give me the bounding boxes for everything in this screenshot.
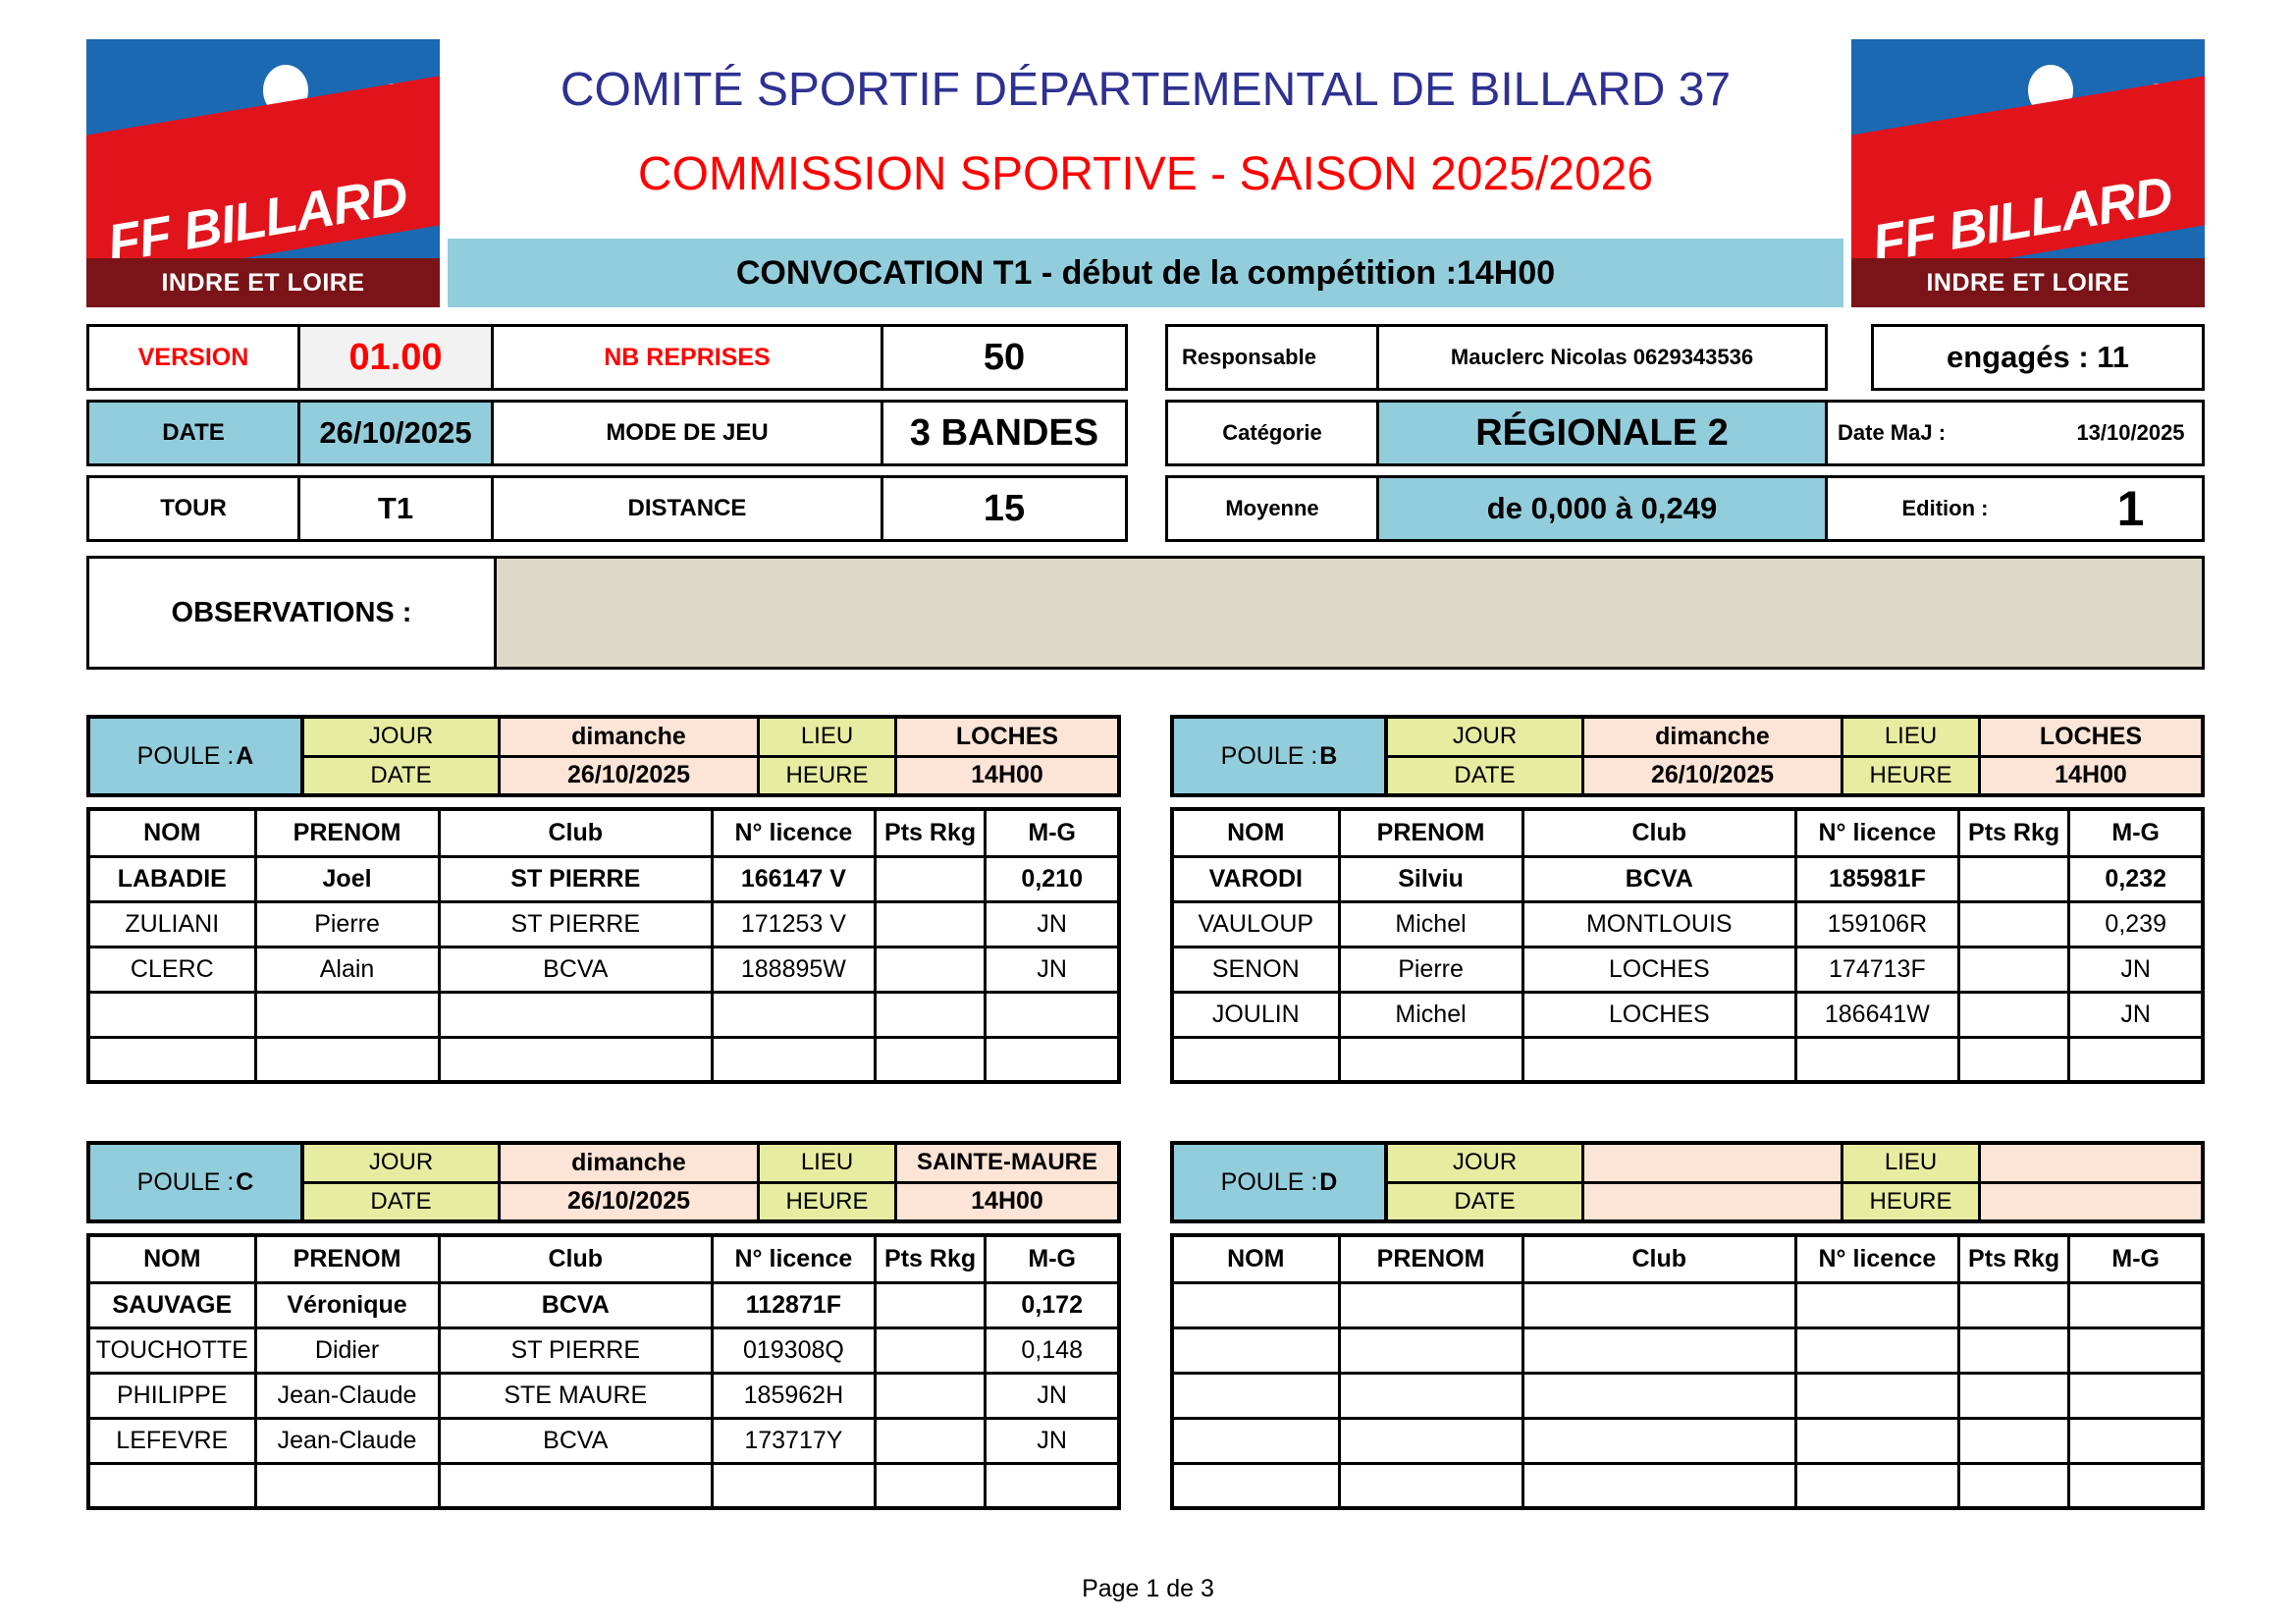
- player-prenom: Jean-Claude: [255, 1418, 439, 1463]
- player-licence: [713, 992, 876, 1037]
- player-prenom: Michel: [1339, 992, 1522, 1037]
- player-nom: [1172, 1418, 1339, 1463]
- player-prenom: [255, 1463, 439, 1508]
- player-licence: [1796, 1327, 1959, 1373]
- player-prenom: Silviu: [1339, 856, 1522, 901]
- player-club: [439, 992, 712, 1037]
- poule-b-date[interactable]: 26/10/2025: [1584, 758, 1843, 794]
- player-club: [1522, 1282, 1795, 1327]
- player-pts: [1958, 1463, 2069, 1508]
- convocation-document: FF BILLARD INDRE ET LOIRE COMITÉ SPORTIF…: [0, 0, 2296, 1624]
- document-header: FF BILLARD INDRE ET LOIRE COMITÉ SPORTIF…: [86, 39, 2205, 307]
- player-nom: [88, 1463, 255, 1508]
- player-prenom: [1339, 1373, 1522, 1418]
- player-club: BCVA: [439, 1418, 712, 1463]
- header-titles: COMITÉ SPORTIF DÉPARTEMENTAL DE BILLARD …: [448, 39, 1843, 307]
- player-mg: JN: [986, 947, 1119, 992]
- poule-a-id: A: [236, 742, 253, 771]
- poule-row-top: POULE : A JOUR dimanche LIEU LOCHES DATE…: [86, 715, 2205, 1084]
- table-row[interactable]: [1172, 1282, 2203, 1327]
- player-mg: 0,210: [986, 856, 1119, 901]
- poule-a-jour[interactable]: dimanche: [501, 719, 760, 755]
- player-prenom: [1339, 1418, 1522, 1463]
- moyenne-label: Moyenne: [1165, 475, 1379, 542]
- ff-billard-logo-left: FF BILLARD INDRE ET LOIRE: [86, 39, 440, 307]
- player-licence: 174713F: [1796, 947, 1959, 992]
- player-pts: [875, 856, 986, 901]
- player-club: LOCHES: [1522, 947, 1795, 992]
- player-pts: [1958, 947, 2069, 992]
- distance-value[interactable]: 15: [881, 475, 1128, 542]
- ff-billard-logo-right: FF BILLARD INDRE ET LOIRE: [1851, 39, 2205, 307]
- table-row[interactable]: [1172, 1463, 2203, 1508]
- logo-graphic: FF BILLARD: [1851, 39, 2205, 258]
- date-label: DATE: [304, 1184, 501, 1220]
- col-mg: M-G: [2069, 1235, 2203, 1282]
- poule-b-title: POULE : B: [1174, 719, 1388, 793]
- player-licence: [1796, 1282, 1959, 1327]
- poule-c-lieu[interactable]: SAINTE-MAURE: [897, 1145, 1117, 1181]
- player-mg: JN: [2069, 947, 2203, 992]
- player-prenom: [1339, 1037, 1522, 1082]
- player-club: ST PIERRE: [439, 901, 712, 947]
- player-pts: [875, 1037, 986, 1082]
- poule-c-title: POULE : C: [90, 1145, 304, 1219]
- player-licence: [713, 1463, 876, 1508]
- poules-section: POULE : A JOUR dimanche LIEU LOCHES DATE…: [86, 715, 2205, 1567]
- player-club: BCVA: [439, 1282, 712, 1327]
- player-mg: 0,232: [2069, 856, 2203, 901]
- player-licence: 159106R: [1796, 901, 1959, 947]
- date-maj-label: Date MaJ :: [1825, 400, 2062, 466]
- edition-label: Edition :: [1825, 475, 2062, 542]
- heure-label: HEURE: [760, 758, 897, 794]
- table-row[interactable]: [88, 992, 1119, 1037]
- table-header-row: NOM PRENOM Club N° licence Pts Rkg M-G: [88, 809, 1119, 856]
- date-label: DATE: [86, 400, 300, 466]
- poule-a-table: NOM PRENOM Club N° licence Pts Rkg M-G L…: [86, 807, 1121, 1084]
- player-licence: 173717Y: [713, 1418, 876, 1463]
- player-prenom: Pierre: [1339, 947, 1522, 992]
- player-mg: [2069, 1463, 2203, 1508]
- player-prenom: [1339, 1282, 1522, 1327]
- player-club: [1522, 1327, 1795, 1373]
- col-prenom: PRENOM: [1339, 809, 1522, 856]
- poule-c-jour[interactable]: dimanche: [501, 1145, 760, 1181]
- poule-b-table: NOM PRENOM Club N° licence Pts Rkg M-G V…: [1170, 807, 2205, 1084]
- col-pts: Pts Rkg: [875, 809, 986, 856]
- col-licence: N° licence: [1796, 1235, 1959, 1282]
- player-pts: [875, 1463, 986, 1508]
- moyenne-value[interactable]: de 0,000 à 0,249: [1376, 475, 1828, 542]
- player-pts: [875, 1418, 986, 1463]
- player-mg: 0,239: [2069, 901, 2203, 947]
- poule-d-heure[interactable]: [1981, 1184, 2201, 1220]
- info-row-version: VERSION 01.00 NB REPRISES 50 Responsable…: [86, 324, 2205, 391]
- edition-value[interactable]: 1: [2059, 475, 2205, 542]
- player-nom: LEFEVRE: [88, 1418, 255, 1463]
- player-licence: 166147 V: [713, 856, 876, 901]
- player-club: [439, 1463, 712, 1508]
- nb-reprises-value[interactable]: 50: [881, 324, 1128, 391]
- player-pts: [875, 1373, 986, 1418]
- player-prenom: [255, 992, 439, 1037]
- player-prenom: Pierre: [255, 901, 439, 947]
- heure-label: HEURE: [1843, 758, 1981, 794]
- player-prenom: Jean-Claude: [255, 1373, 439, 1418]
- table-row[interactable]: SENON Pierre LOCHES 174713F JN: [1172, 947, 2203, 992]
- player-club: LOCHES: [1522, 992, 1795, 1037]
- table-row[interactable]: VARODI Silviu BCVA 185981F 0,232: [1172, 856, 2203, 901]
- table-row[interactable]: [1172, 1037, 2203, 1082]
- poule-a-header: POULE : A JOUR dimanche LIEU LOCHES DATE…: [86, 715, 1121, 797]
- poule-c: POULE : C JOUR dimanche LIEU SAINTE-MAUR…: [86, 1141, 1121, 1510]
- player-mg: JN: [986, 1418, 1119, 1463]
- mode-de-jeu-value[interactable]: 3 BANDES: [881, 400, 1128, 466]
- player-pts: [1958, 992, 2069, 1037]
- player-prenom: [1339, 1463, 1522, 1508]
- player-licence: 188895W: [713, 947, 876, 992]
- responsable-value[interactable]: Mauclerc Nicolas 0629343536: [1376, 324, 1828, 391]
- col-prenom: PRENOM: [1339, 1235, 1522, 1282]
- categorie-label: Catégorie: [1165, 400, 1379, 466]
- table-header-row: NOM PRENOM Club N° licence Pts Rkg M-G: [1172, 1235, 2203, 1282]
- poule-b-header: POULE : B JOUR dimanche LIEU LOCHES DATE…: [1170, 715, 2205, 797]
- col-pts: Pts Rkg: [1958, 809, 2069, 856]
- col-nom: NOM: [1172, 809, 1339, 856]
- player-mg: [986, 992, 1119, 1037]
- date-label: DATE: [1388, 1184, 1584, 1220]
- player-pts: [1958, 1373, 2069, 1418]
- poule-row-bottom: POULE : C JOUR dimanche LIEU SAINTE-MAUR…: [86, 1141, 2205, 1510]
- table-row[interactable]: [1172, 1418, 2203, 1463]
- table-row[interactable]: ZULIANI Pierre ST PIERRE 171253 V JN: [88, 901, 1119, 947]
- player-licence: [713, 1037, 876, 1082]
- player-nom: [1172, 1282, 1339, 1327]
- player-mg: [2069, 1327, 2203, 1373]
- player-nom: [1172, 1463, 1339, 1508]
- table-row[interactable]: [88, 1037, 1119, 1082]
- poule-prefix-label: POULE :: [137, 1168, 235, 1197]
- player-nom: [1172, 1037, 1339, 1082]
- player-prenom: Didier: [255, 1327, 439, 1373]
- poule-a-lieu[interactable]: LOCHES: [897, 719, 1117, 755]
- poule-b-lieu[interactable]: LOCHES: [1981, 719, 2201, 755]
- player-mg: JN: [2069, 992, 2203, 1037]
- player-nom: VAULOUP: [1172, 901, 1339, 947]
- col-mg: M-G: [2069, 809, 2203, 856]
- jour-label: JOUR: [1388, 1145, 1584, 1181]
- player-club: [1522, 1037, 1795, 1082]
- lieu-label: LIEU: [1843, 1145, 1981, 1181]
- player-pts: [875, 947, 986, 992]
- poule-d-title: POULE : D: [1174, 1145, 1388, 1219]
- player-mg: 0,148: [986, 1327, 1119, 1373]
- page-title: COMITÉ SPORTIF DÉPARTEMENTAL DE BILLARD …: [448, 39, 1843, 114]
- mode-de-jeu-label: MODE DE JEU: [491, 400, 883, 466]
- player-club: ST PIERRE: [439, 1327, 712, 1373]
- player-club: [1522, 1418, 1795, 1463]
- poule-a-title: POULE : A: [90, 719, 304, 793]
- poule-c-header: POULE : C JOUR dimanche LIEU SAINTE-MAUR…: [86, 1141, 1121, 1223]
- poule-c-table: NOM PRENOM Club N° licence Pts Rkg M-G S…: [86, 1233, 1121, 1510]
- page-footer: Page 1 de 3: [0, 1575, 2296, 1603]
- poule-a: POULE : A JOUR dimanche LIEU LOCHES DATE…: [86, 715, 1121, 1084]
- player-pts: [1958, 901, 2069, 947]
- distance-label: DISTANCE: [491, 475, 883, 542]
- player-mg: 0,172: [986, 1282, 1119, 1327]
- player-club: ST PIERRE: [439, 856, 712, 901]
- poule-prefix-label: POULE :: [137, 742, 235, 771]
- col-nom: NOM: [88, 809, 255, 856]
- player-nom: LABADIE: [88, 856, 255, 901]
- col-licence: N° licence: [1796, 809, 1959, 856]
- player-club: MONTLOUIS: [1522, 901, 1795, 947]
- col-licence: N° licence: [713, 809, 876, 856]
- convocation-banner: CONVOCATION T1 - début de la compétition…: [448, 239, 1843, 307]
- poule-b-jour[interactable]: dimanche: [1584, 719, 1843, 755]
- col-prenom: PRENOM: [255, 809, 439, 856]
- player-licence: [1796, 1463, 1959, 1508]
- col-club: Club: [1522, 809, 1795, 856]
- poule-c-date[interactable]: 26/10/2025: [501, 1184, 760, 1220]
- player-prenom: Véronique: [255, 1282, 439, 1327]
- player-nom: SAUVAGE: [88, 1282, 255, 1327]
- version-label: VERSION: [86, 324, 300, 391]
- observations-row: OBSERVATIONS :: [86, 556, 2205, 670]
- competition-info-grid: VERSION 01.00 NB REPRISES 50 Responsable…: [86, 324, 2205, 670]
- version-value[interactable]: 01.00: [297, 324, 494, 391]
- table-row[interactable]: JOULIN Michel LOCHES 186641W JN: [1172, 992, 2203, 1037]
- convocation-banner-text: CONVOCATION T1 - début de la compétition…: [736, 254, 1555, 293]
- table-row[interactable]: TOUCHOTTE Didier ST PIERRE 019308Q 0,148: [88, 1327, 1119, 1373]
- player-pts: [1958, 1418, 2069, 1463]
- date-label: DATE: [1388, 758, 1584, 794]
- player-club: [1522, 1463, 1795, 1508]
- table-row[interactable]: [1172, 1327, 2203, 1373]
- poule-a-heure[interactable]: 14H00: [897, 758, 1117, 794]
- player-licence: [1796, 1037, 1959, 1082]
- col-pts: Pts Rkg: [875, 1235, 986, 1282]
- player-pts: [1958, 1327, 2069, 1373]
- page-subtitle: COMMISSION SPORTIVE - SAISON 2025/2026: [448, 114, 1843, 198]
- tour-value[interactable]: T1: [297, 475, 494, 542]
- observations-field[interactable]: [497, 556, 2205, 670]
- jour-label: JOUR: [304, 719, 501, 755]
- jour-label: JOUR: [1388, 719, 1584, 755]
- player-club: STE MAURE: [439, 1373, 712, 1418]
- info-row-date: DATE 26/10/2025 MODE DE JEU 3 BANDES Cat…: [86, 400, 2205, 466]
- poule-c-heure[interactable]: 14H00: [897, 1184, 1117, 1220]
- player-pts: [1958, 1037, 2069, 1082]
- player-prenom: Michel: [1339, 901, 1522, 947]
- player-pts: [875, 1282, 986, 1327]
- info-row-tour: TOUR T1 DISTANCE 15 Moyenne de 0,000 à 0…: [86, 475, 2205, 542]
- player-nom: VARODI: [1172, 856, 1339, 901]
- player-licence: 185981F: [1796, 856, 1959, 901]
- lieu-label: LIEU: [1843, 719, 1981, 755]
- col-mg: M-G: [986, 809, 1119, 856]
- poule-prefix-label: POULE :: [1221, 742, 1318, 771]
- observations-label: OBSERVATIONS :: [86, 556, 497, 670]
- player-nom: PHILIPPE: [88, 1373, 255, 1418]
- table-row[interactable]: LEFEVRE Jean-Claude BCVA 173717Y JN: [88, 1418, 1119, 1463]
- player-mg: JN: [986, 1373, 1119, 1418]
- col-pts: Pts Rkg: [1958, 1235, 2069, 1282]
- col-nom: NOM: [88, 1235, 255, 1282]
- poule-prefix-label: POULE :: [1221, 1168, 1318, 1197]
- engages-count: engagés : 11: [1871, 324, 2205, 391]
- date-value[interactable]: 26/10/2025: [297, 400, 494, 466]
- logo-subtitle: INDRE ET LOIRE: [1851, 258, 2205, 307]
- logo-graphic: FF BILLARD: [86, 39, 440, 258]
- col-nom: NOM: [1172, 1235, 1339, 1282]
- player-nom: TOUCHOTTE: [88, 1327, 255, 1373]
- player-mg: [2069, 1037, 2203, 1082]
- player-prenom: [255, 1037, 439, 1082]
- table-row[interactable]: SAUVAGE Véronique BCVA 112871F 0,172: [88, 1282, 1119, 1327]
- date-label: DATE: [304, 758, 501, 794]
- player-nom: JOULIN: [1172, 992, 1339, 1037]
- player-prenom: [1339, 1327, 1522, 1373]
- player-club: [1522, 1373, 1795, 1418]
- categorie-value[interactable]: RÉGIONALE 2: [1376, 400, 1828, 466]
- poule-c-id: C: [236, 1168, 253, 1197]
- poule-b: POULE : B JOUR dimanche LIEU LOCHES DATE…: [1170, 715, 2205, 1084]
- responsable-label: Responsable: [1165, 324, 1379, 391]
- table-row[interactable]: PHILIPPE Jean-Claude STE MAURE 185962H J…: [88, 1373, 1119, 1418]
- poule-d-date[interactable]: [1584, 1184, 1843, 1220]
- player-pts: [875, 901, 986, 947]
- col-prenom: PRENOM: [255, 1235, 439, 1282]
- player-nom: CLERC: [88, 947, 255, 992]
- col-club: Club: [1522, 1235, 1795, 1282]
- heure-label: HEURE: [760, 1184, 897, 1220]
- player-mg: [2069, 1282, 2203, 1327]
- player-prenom: Alain: [255, 947, 439, 992]
- poule-d-header: POULE : D JOUR LIEU DATE HEURE: [1170, 1141, 2205, 1223]
- nb-reprises-label: NB REPRISES: [491, 324, 883, 391]
- poule-d: POULE : D JOUR LIEU DATE HEURE: [1170, 1141, 2205, 1510]
- table-row[interactable]: CLERC Alain BCVA 188895W JN: [88, 947, 1119, 992]
- player-mg: [2069, 1373, 2203, 1418]
- col-club: Club: [439, 809, 712, 856]
- player-nom: [1172, 1373, 1339, 1418]
- player-pts: [875, 992, 986, 1037]
- player-licence: 171253 V: [713, 901, 876, 947]
- col-mg: M-G: [986, 1235, 1119, 1282]
- col-licence: N° licence: [713, 1235, 876, 1282]
- player-nom: ZULIANI: [88, 901, 255, 947]
- player-nom: [1172, 1327, 1339, 1373]
- poule-b-id: B: [1319, 742, 1337, 771]
- player-mg: [986, 1037, 1119, 1082]
- poule-d-table: NOM PRENOM Club N° licence Pts Rkg M-G: [1170, 1233, 2205, 1510]
- player-licence: 186641W: [1796, 992, 1959, 1037]
- player-mg: [2069, 1418, 2203, 1463]
- player-licence: [1796, 1373, 1959, 1418]
- poule-d-jour[interactable]: [1584, 1145, 1843, 1181]
- player-licence: 019308Q: [713, 1327, 876, 1373]
- player-mg: [986, 1463, 1119, 1508]
- jour-label: JOUR: [304, 1145, 501, 1181]
- poule-d-lieu[interactable]: [1981, 1145, 2201, 1181]
- player-licence: 112871F: [713, 1282, 876, 1327]
- logo-subtitle: INDRE ET LOIRE: [86, 258, 440, 307]
- player-pts: [1958, 1282, 2069, 1327]
- player-club: [439, 1037, 712, 1082]
- table-row[interactable]: [88, 1463, 1119, 1508]
- player-nom: SENON: [1172, 947, 1339, 992]
- lieu-label: LIEU: [760, 719, 897, 755]
- heure-label: HEURE: [1843, 1184, 1981, 1220]
- date-maj-value[interactable]: 13/10/2025: [2059, 400, 2205, 466]
- player-pts: [1958, 856, 2069, 901]
- table-header-row: NOM PRENOM Club N° licence Pts Rkg M-G: [1172, 809, 2203, 856]
- player-nom: [88, 1037, 255, 1082]
- player-licence: 185962H: [713, 1373, 876, 1418]
- poule-d-id: D: [1319, 1168, 1337, 1197]
- player-prenom: Joel: [255, 856, 439, 901]
- lieu-label: LIEU: [760, 1145, 897, 1181]
- tour-label: TOUR: [86, 475, 300, 542]
- poule-a-date[interactable]: 26/10/2025: [501, 758, 760, 794]
- player-club: BCVA: [439, 947, 712, 992]
- poule-b-heure[interactable]: 14H00: [1981, 758, 2201, 794]
- player-pts: [875, 1327, 986, 1373]
- table-row[interactable]: VAULOUP Michel MONTLOUIS 159106R 0,239: [1172, 901, 2203, 947]
- col-club: Club: [439, 1235, 712, 1282]
- table-row[interactable]: LABADIE Joel ST PIERRE 166147 V 0,210: [88, 856, 1119, 901]
- table-row[interactable]: [1172, 1373, 2203, 1418]
- player-licence: [1796, 1418, 1959, 1463]
- player-mg: JN: [986, 901, 1119, 947]
- table-header-row: NOM PRENOM Club N° licence Pts Rkg M-G: [88, 1235, 1119, 1282]
- player-nom: [88, 992, 255, 1037]
- player-club: BCVA: [1522, 856, 1795, 901]
